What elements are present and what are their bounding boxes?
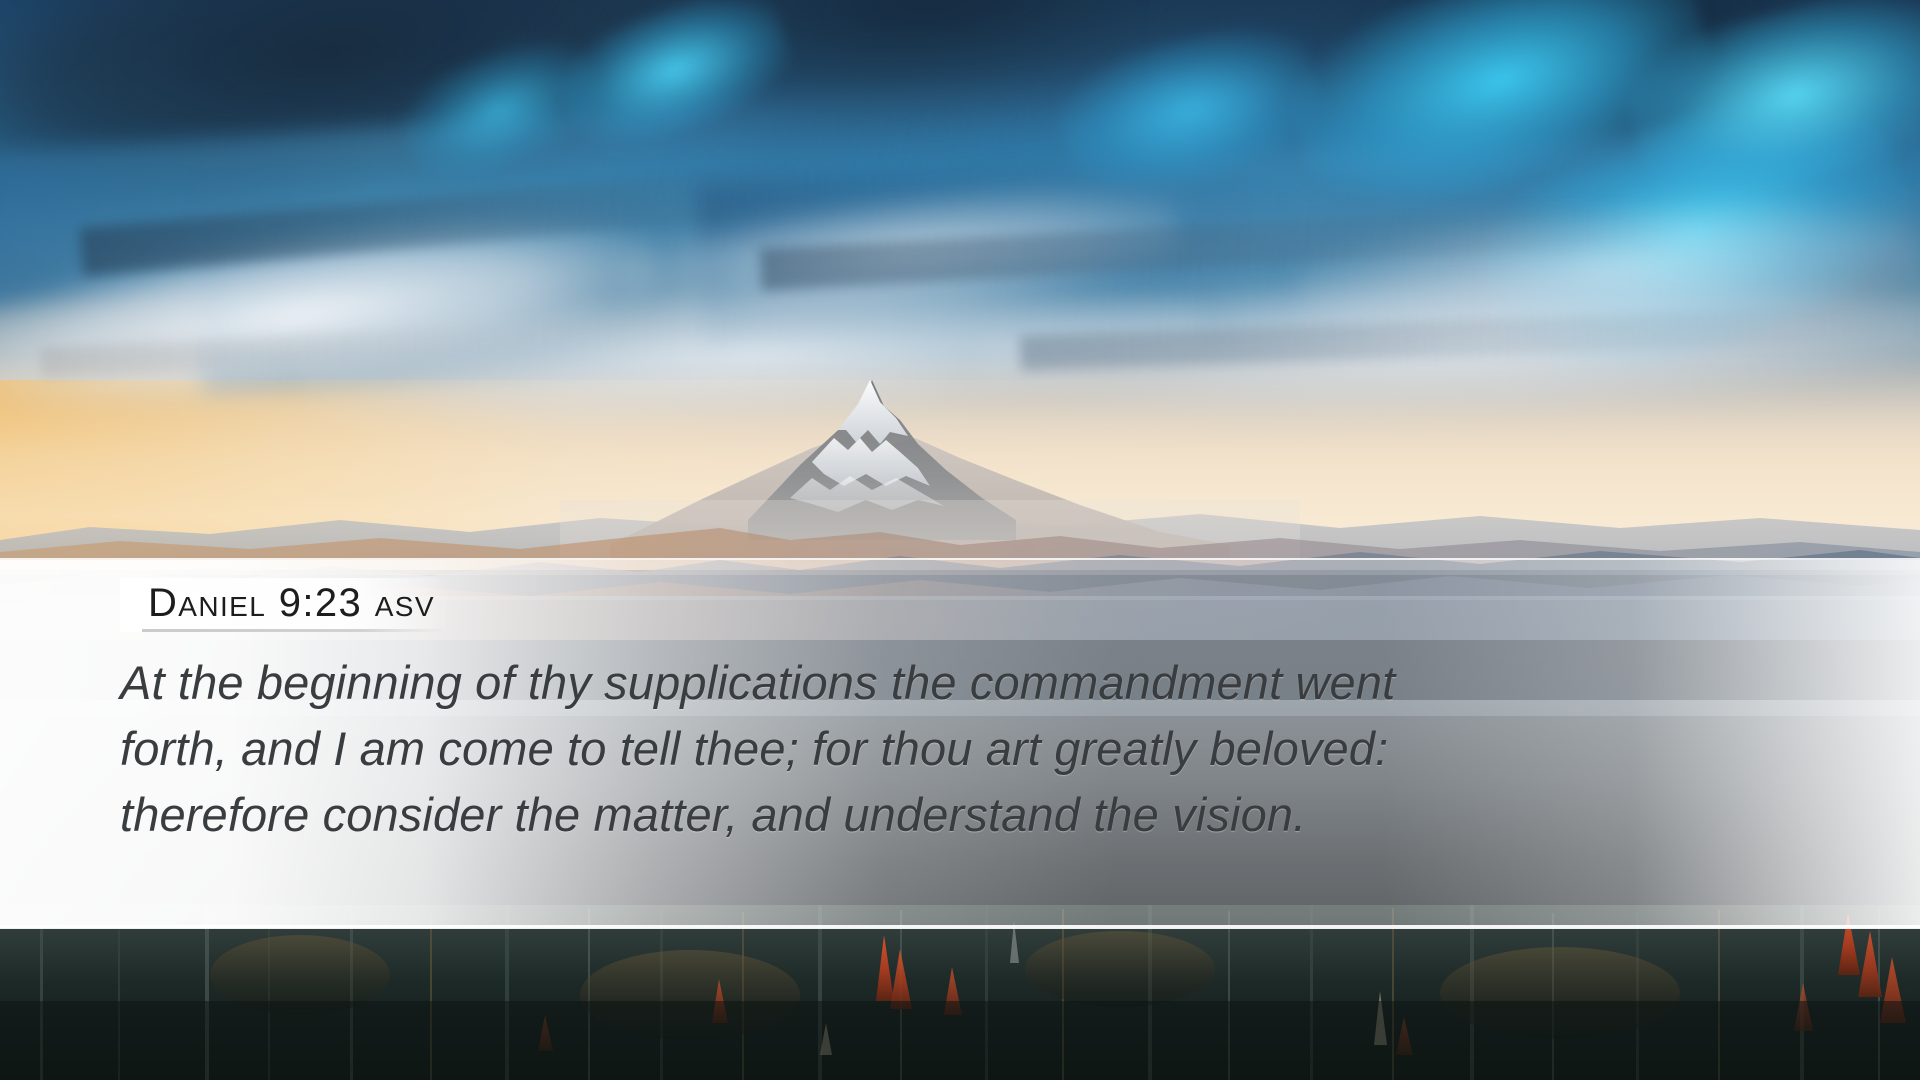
verse-reference-block: Daniel 9:23 ASV — [120, 578, 449, 632]
forest-canopy — [0, 905, 1920, 1080]
verse-line: forth, and I am come to tell thee; for t… — [120, 716, 1450, 782]
verse-text: At the beginning of thy supplications th… — [120, 650, 1450, 848]
verse-reference: Daniel 9:23 ASV — [148, 582, 435, 624]
verse-line: At the beginning of thy supplications th… — [120, 650, 1450, 716]
wallpaper-canvas: Daniel 9:23 ASV At the beginning of thy … — [0, 0, 1920, 1080]
verse-line: therefore consider the matter, and under… — [120, 782, 1450, 848]
verse-reference-underline — [142, 629, 449, 632]
verse-content: Daniel 9:23 ASV At the beginning of thy … — [0, 560, 1920, 928]
